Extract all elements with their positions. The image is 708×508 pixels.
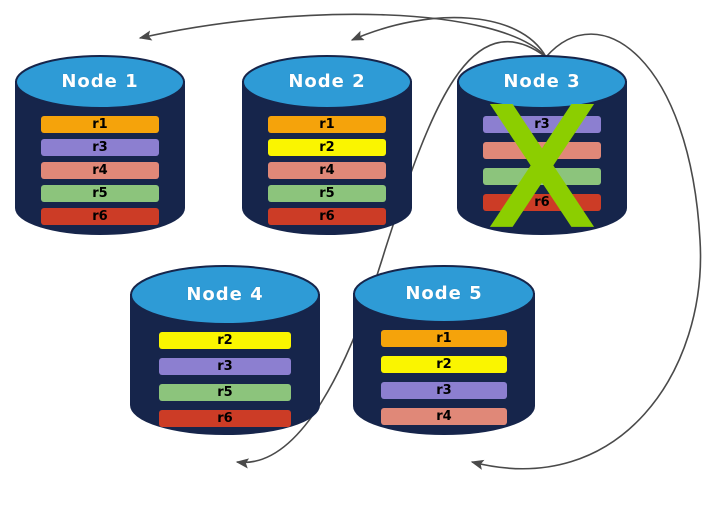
node-1-replica-r4: r4 [41, 162, 159, 179]
replica-label: r1 [436, 332, 451, 345]
node-1-replica-r1: r1 [41, 116, 159, 133]
node-2-replica-r2: r2 [268, 139, 386, 156]
node-4-replica-r3: r3 [159, 358, 291, 375]
replica-label: r4 [319, 164, 334, 177]
replica-label: r3 [534, 118, 549, 131]
node-5-replica-r4: r4 [381, 408, 507, 425]
replica-label: r5 [92, 187, 107, 200]
node-5-replica-r2: r2 [381, 356, 507, 373]
replica-label: r6 [217, 412, 232, 425]
replica-label: r5 [319, 187, 334, 200]
replica-label: r4 [534, 144, 549, 157]
replica-label: r2 [319, 141, 334, 154]
node-2-replica-r5: r5 [268, 185, 386, 202]
replica-label: r1 [319, 118, 334, 131]
replica-label: r2 [217, 334, 232, 347]
replica-label: r1 [92, 118, 107, 131]
cylinder-shape [131, 266, 319, 434]
node-3-replica-r4: r4 [483, 142, 601, 159]
replica-label: r2 [436, 358, 451, 371]
replica-label: r4 [92, 164, 107, 177]
replica-label: r6 [534, 196, 549, 209]
replica-label: r3 [217, 360, 232, 373]
replica-label: r5 [534, 170, 549, 183]
node-4[interactable]: Node 4r2r3r5r6 [131, 266, 319, 434]
diagram-canvas: Node 1r1r3r4r5r6Node 2r1r2r4r5r6Node 3r3… [0, 0, 708, 508]
cylinder-top [243, 56, 411, 108]
node-3-replica-r5: r5 [483, 168, 601, 185]
node-5-replica-r3: r3 [381, 382, 507, 399]
cylinder-top [16, 56, 184, 108]
node-1[interactable]: Node 1r1r3r4r5r6 [16, 56, 184, 234]
node-4-replica-r5: r5 [159, 384, 291, 401]
cylinder-top [354, 266, 534, 322]
cylinder-top [131, 266, 319, 324]
replica-label: r3 [436, 384, 451, 397]
replica-label: r6 [319, 210, 334, 223]
node-1-replica-r3: r3 [41, 139, 159, 156]
node-2-replica-r1: r1 [268, 116, 386, 133]
node-5[interactable]: Node 5r1r2r3r4 [354, 266, 534, 434]
node-1-replica-r5: r5 [41, 185, 159, 202]
node-4-replica-r6: r6 [159, 410, 291, 427]
node-4-replica-r2: r2 [159, 332, 291, 349]
node-5-replica-r1: r1 [381, 330, 507, 347]
node-2-replica-r6: r6 [268, 208, 386, 225]
replica-label: r5 [217, 386, 232, 399]
replica-label: r3 [92, 141, 107, 154]
node-3-replica-r3: r3 [483, 116, 601, 133]
node-2-replica-r4: r4 [268, 162, 386, 179]
node-3[interactable]: Node 3r3r4r5r6 [458, 56, 626, 234]
node-1-replica-r6: r6 [41, 208, 159, 225]
replica-label: r6 [92, 210, 107, 223]
node-3-replica-r6: r6 [483, 194, 601, 211]
node-2[interactable]: Node 2r1r2r4r5r6 [243, 56, 411, 234]
replica-label: r4 [436, 410, 451, 423]
cylinder-top [458, 56, 626, 108]
